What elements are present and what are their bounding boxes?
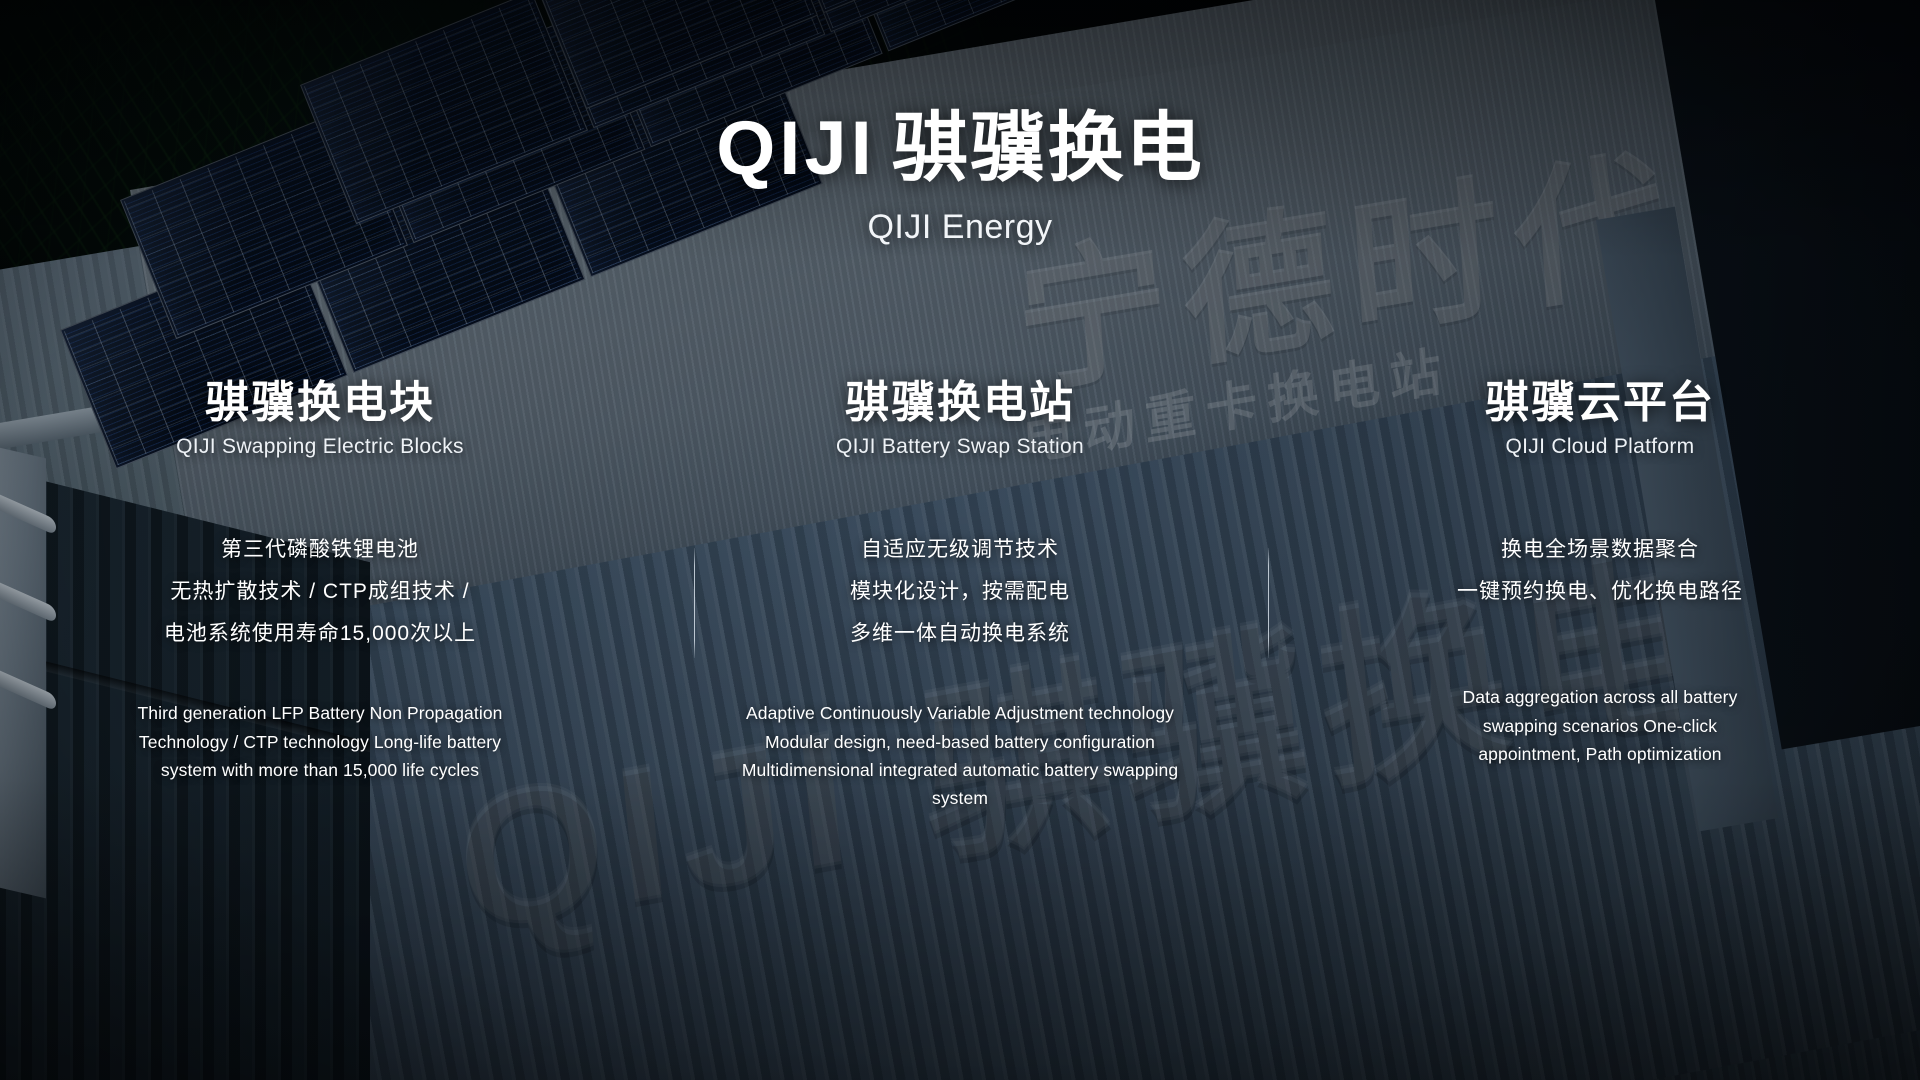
brand-title-cn: 骐骥换电 [892,106,1204,191]
column-english-body: Data aggregation across all battery swap… [1440,683,1760,768]
column-chinese-body: 自适应无级调节技术 模块化设计，按需配电 多维一体自动换电系统 [668,529,1252,655]
column-subtitle: QIJI Cloud Platform [1308,435,1892,459]
column-chinese-line: 一键预约换电、优化换电路径 [1308,571,1892,613]
column-chinese-line: 多维一体自动换电系统 [668,613,1252,655]
brand-header: QIJI骐骥换电 QIJI Energy [0,108,1920,247]
column-chinese-line: 模块化设计，按需配电 [668,571,1252,613]
column-title: 骐骥换电块 [28,378,612,427]
column-chinese-line: 无热扩散技术 / CTP成组技术 / [28,571,612,613]
column-divider-2 [1268,548,1269,658]
column-chinese-body: 换电全场景数据聚合 一键预约换电、优化换电路径 [1308,529,1892,613]
column-chinese-line: 电池系统使用寿命15,000次以上 [28,613,612,655]
column-subtitle: QIJI Battery Swap Station [668,435,1252,459]
column-divider-1 [694,548,695,658]
column-english-body: Adaptive Continuously Variable Adjustmen… [740,699,1180,812]
slide-root: 宁德时代 电动重卡换电站 QIJI 骐骥 QIJI 骐骥换电 [0,0,1920,1080]
feature-column-cloud-platform: 骐骥云平台 QIJI Cloud Platform 换电全场景数据聚合 一键预约… [1280,378,1920,813]
column-subtitle: QIJI Swapping Electric Blocks [28,435,612,459]
column-chinese-line: 第三代磷酸铁锂电池 [28,529,612,571]
brand-subtitle: QIJI Energy [0,208,1920,247]
column-english-body: Third generation LFP Battery Non Propaga… [124,699,516,784]
slide-content: QIJI骐骥换电 QIJI Energy 骐骥换电块 QIJI Swapping… [0,0,1920,1080]
feature-column-swapping-electric-blocks: 骐骥换电块 QIJI Swapping Electric Blocks 第三代磷… [0,378,640,813]
column-title: 骐骥换电站 [668,378,1252,427]
brand-title: QIJI骐骥换电 [0,108,1920,190]
column-chinese-line: 换电全场景数据聚合 [1308,529,1892,571]
column-chinese-body: 第三代磷酸铁锂电池 无热扩散技术 / CTP成组技术 / 电池系统使用寿命15,… [28,529,612,655]
feature-columns: 骐骥换电块 QIJI Swapping Electric Blocks 第三代磷… [0,378,1920,813]
feature-column-battery-swap-station: 骐骥换电站 QIJI Battery Swap Station 自适应无级调节技… [640,378,1280,813]
brand-title-latin: QIJI [716,106,876,191]
column-title: 骐骥云平台 [1308,378,1892,427]
column-chinese-line: 自适应无级调节技术 [668,529,1252,571]
